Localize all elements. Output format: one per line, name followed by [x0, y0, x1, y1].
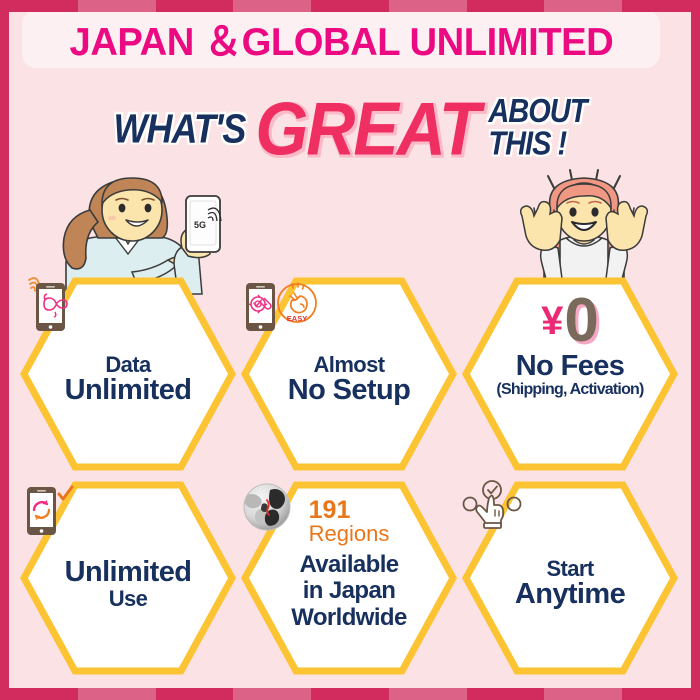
subheadline-about-line2: THIS !	[488, 129, 586, 161]
feature-line1: No Fees	[516, 352, 625, 382]
feature-line1: Available	[299, 552, 398, 578]
feature-line2: Use	[109, 588, 148, 610]
feature-line1: Data	[105, 354, 150, 376]
feature-hex-unlimited-use[interactable]: Unlimited Use	[19, 480, 237, 676]
feature-line2: No Setup	[288, 376, 410, 406]
globe-japan-icon: 191 Regions	[309, 490, 390, 552]
subheadline-great: GREAT	[255, 93, 478, 164]
feature-line1: Unlimited	[65, 558, 192, 588]
bottom-stripe-border	[0, 688, 700, 700]
yen-amount: 0	[564, 295, 598, 348]
subheadline: WHAT'S GREAT ABOUT THIS !	[0, 88, 700, 170]
feature-hex-grid: Data Unlimited	[9, 276, 691, 676]
regions-count: 191	[309, 498, 390, 523]
feature-hex-no-fees[interactable]: ¥ 0 No Fees (Shipping, Activation)	[461, 276, 679, 472]
headline-bar: JAPAN ＆GLOBAL UNLIMITED	[22, 10, 660, 68]
top-stripe-border	[0, 0, 700, 12]
svg-text:EASY: EASY	[287, 314, 307, 323]
feature-hex-almost-no-setup[interactable]: EASY Almost No Setup	[240, 276, 458, 472]
poster-root: 5G	[0, 0, 700, 700]
feature-line2: (Shipping, Activation)	[496, 382, 643, 398]
yen-symbol: ¥	[541, 301, 563, 341]
feature-line3: Worldwide	[291, 605, 407, 631]
feature-line1: Start	[546, 558, 593, 580]
feature-line2: Unlimited	[65, 376, 192, 406]
subheadline-about-line1: ABOUT	[488, 97, 586, 129]
feature-hex-data-unlimited[interactable]: Data Unlimited	[19, 276, 237, 472]
feature-line2: Anytime	[515, 580, 625, 610]
feature-line1: Almost	[314, 354, 385, 376]
subheadline-about: ABOUT THIS !	[488, 97, 586, 161]
yen-zero-icon: ¥ 0	[541, 290, 599, 352]
svg-text:5G: 5G	[194, 220, 206, 230]
feature-line2: in Japan	[303, 578, 396, 604]
feature-hex-available-worldwide[interactable]: 191 Regions Available in Japan Worldwide	[240, 480, 458, 676]
subheadline-whats: WHAT'S	[114, 105, 246, 152]
feature-hex-start-anytime[interactable]: Start Anytime	[461, 480, 679, 676]
page-title: JAPAN ＆GLOBAL UNLIMITED	[69, 11, 613, 67]
regions-label: Regions	[309, 523, 390, 545]
